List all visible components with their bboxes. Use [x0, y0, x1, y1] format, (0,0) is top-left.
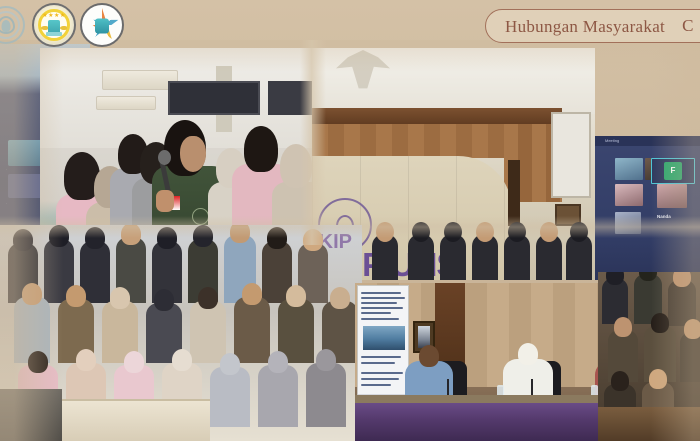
- uns-logo: [0, 3, 28, 47]
- auditorium-person: [440, 234, 466, 280]
- slide-text-line: [361, 297, 405, 299]
- zoom-grid-tile: [615, 158, 643, 180]
- group-person: [234, 297, 270, 363]
- zoom-grid-tile: [615, 184, 643, 206]
- photo-collage: · ·: [0, 40, 700, 441]
- zoom-grid-initial-avatar: F: [664, 162, 682, 180]
- jacket-emblem-patch: [192, 208, 209, 225]
- slide-text-line: [361, 384, 391, 386]
- speaker-hand: [156, 190, 174, 212]
- slide-text-line: [361, 318, 399, 320]
- auditorium-person: [408, 234, 434, 280]
- audience-person: [680, 332, 700, 382]
- auditorium-dark-strip: [508, 160, 520, 226]
- student-head-h: [280, 144, 312, 188]
- section-title-badge: Hubungan Masyarakat C: [485, 9, 700, 43]
- audience-bench-rail: [598, 407, 700, 441]
- zoom-grid-right-photo: Meeting F Nanda: [595, 136, 700, 280]
- slide-text-line: [361, 307, 403, 309]
- slide-text-line: [361, 312, 391, 314]
- slide-text-line: [361, 302, 397, 304]
- group-photo-side-desk: [0, 389, 62, 441]
- section-title-overflow-char: C: [682, 16, 693, 36]
- gold-emblem-wing-right: [60, 26, 67, 30]
- classroom-vent-2: [96, 96, 156, 110]
- zoom-grid-tile: [657, 184, 687, 208]
- student-head-g: [244, 126, 278, 172]
- gold-emblem-wing-left: [41, 26, 48, 30]
- student-speaker-face: [180, 136, 206, 172]
- slide-text-line: [361, 292, 401, 294]
- zoom-grid-tile: [615, 212, 641, 234]
- slide-text-line: [361, 372, 403, 374]
- auditorium-person: [566, 234, 592, 280]
- slide-embedded-image: [363, 326, 405, 350]
- group-person: [306, 363, 346, 427]
- auditorium-person: [536, 234, 562, 280]
- section-title-text: Hubungan Masyarakat: [505, 18, 665, 35]
- gold-emblem-stars: ★★★★: [34, 13, 74, 19]
- slide-text-line: [361, 356, 401, 358]
- logo-row: ★★★★: [4, 3, 124, 47]
- zoom-left-tile-1: [8, 140, 42, 166]
- classroom-whiteboard: [168, 81, 260, 115]
- white-star-emblem-logo: [80, 3, 124, 47]
- auditorium-person: [372, 234, 398, 280]
- group-photo: FKIP: [0, 225, 362, 441]
- white-emblem-figure: [95, 19, 109, 34]
- zoom-grid-active-tile: F: [651, 158, 695, 184]
- zoom-grid-titlebar: Meeting: [595, 136, 700, 146]
- uns-logo-core: [2, 20, 11, 32]
- zoom-left-caption-2: ·: [6, 202, 7, 206]
- group-person: [258, 365, 298, 427]
- panel-presentation-screen: [357, 285, 409, 403]
- auditorium-projection-screen: [551, 112, 591, 198]
- classroom-vent-1: [102, 70, 178, 90]
- slide-root: ★★★★ Hubungan Masyarakat C · ·: [0, 0, 700, 441]
- auditorium-person: [504, 234, 530, 280]
- slide-text-line: [361, 378, 399, 380]
- zoom-left-tile-3: [8, 174, 42, 198]
- group-person: [190, 301, 226, 363]
- slide-header: ★★★★ Hubungan Masyarakat C: [0, 0, 700, 52]
- gold-emblem-base: [46, 32, 62, 36]
- zoom-left-caption-1: ·: [6, 168, 7, 172]
- microphone-icon: [158, 150, 171, 165]
- auditorium-person: [472, 234, 498, 280]
- zoom-grid-host-name: Nanda: [657, 214, 671, 219]
- audience-right-photo: [598, 272, 700, 441]
- gold-emblem-logo: ★★★★: [32, 3, 76, 47]
- slide-text-line: [361, 362, 395, 364]
- group-person: [210, 367, 250, 427]
- classroom-whiteboard-2: [268, 81, 312, 115]
